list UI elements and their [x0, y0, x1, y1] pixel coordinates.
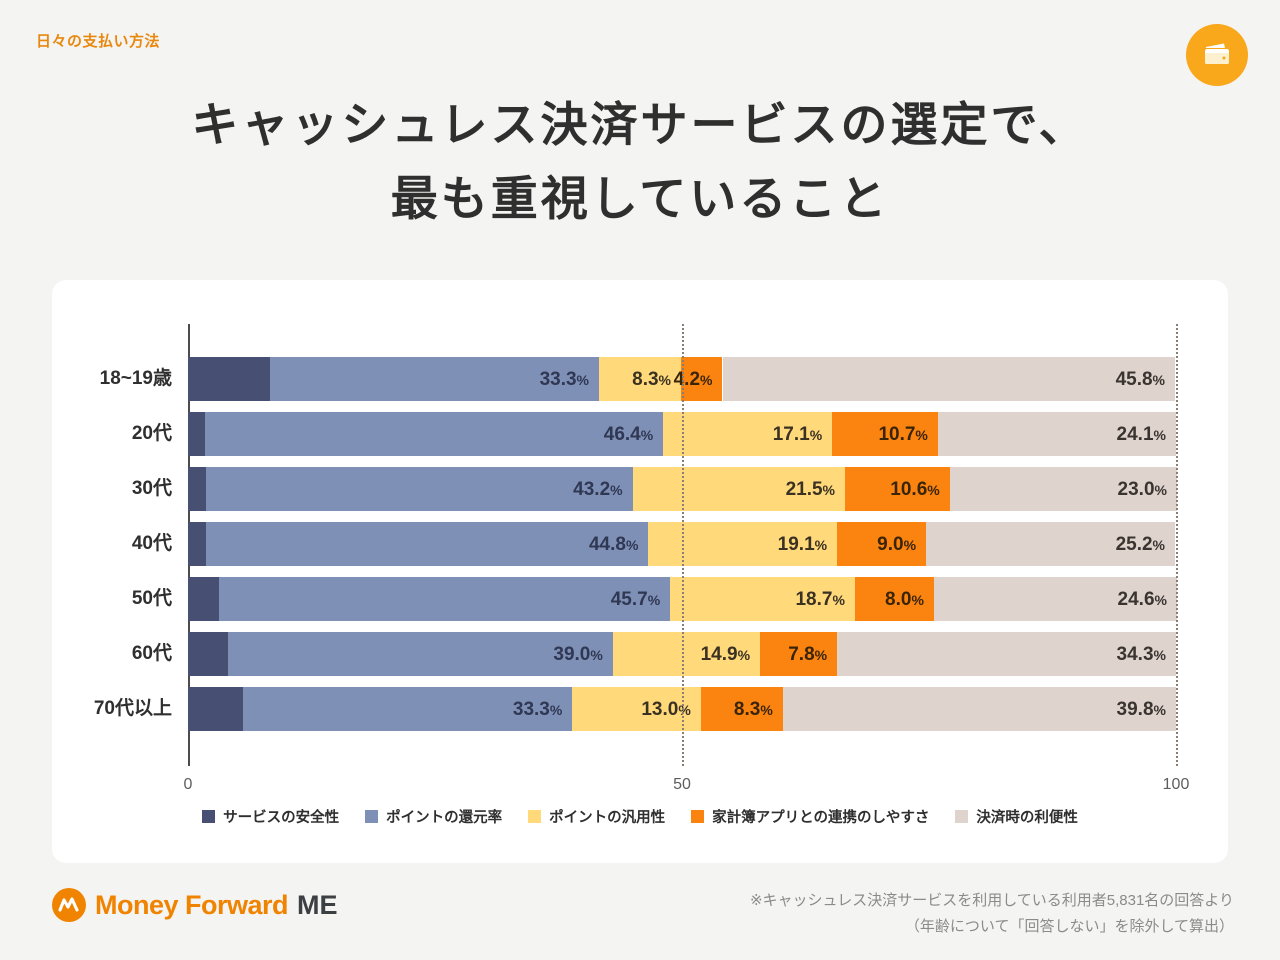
percent-sign: % — [915, 427, 927, 443]
bar-segment: 1.7% — [188, 412, 205, 456]
logo-me: ME — [297, 890, 338, 921]
bar-segment-value: 13.0% — [641, 700, 700, 719]
row-category-label: 60代 — [132, 632, 188, 676]
percent-sign: % — [626, 537, 638, 553]
row-category-label: 18~19歳 — [100, 357, 188, 401]
bar-segment: 8.3% — [701, 687, 783, 731]
wallet-icon — [1202, 41, 1232, 69]
bar-segment: 18.7% — [670, 577, 855, 621]
bar-segment: 33.3% — [243, 687, 572, 731]
footnote: ※キャッシュレス決済サービスを利用している利用者5,831名の回答より （年齢に… — [750, 888, 1234, 941]
page-title-line-2: 最も重視していること — [0, 162, 1280, 236]
eyebrow-label: 日々の支払い方法 — [36, 30, 160, 51]
percent-sign: % — [823, 482, 835, 498]
bar-segment: 23.0% — [950, 467, 1177, 511]
page-title-line-1: キャッシュレス決済サービスの選定で、 — [0, 88, 1280, 162]
bar-segment-value: 9.0% — [877, 535, 926, 554]
legend-item[interactable]: ポイントの還元率 — [365, 806, 502, 827]
bar-segment-value: 45.8% — [1116, 370, 1175, 389]
bar-segment: 5.6% — [188, 687, 243, 731]
bar-segment-value: 39.8% — [1117, 700, 1176, 719]
bar-segment-value: 21.5% — [786, 480, 845, 499]
legend-item[interactable]: 家計簿アプリとの連携のしやすさ — [691, 806, 929, 827]
legend-swatch-icon — [691, 810, 704, 823]
legend-swatch-icon — [202, 810, 215, 823]
row-category-label: 70代以上 — [94, 687, 188, 731]
bar-segment-value: 33.3% — [513, 700, 572, 719]
legend-label: 決済時の利便性 — [976, 806, 1078, 827]
percent-sign: % — [1154, 427, 1166, 443]
bar-segment-value: 44.8% — [589, 535, 648, 554]
percent-sign: % — [1155, 592, 1167, 608]
legend-item[interactable]: サービスの安全性 — [202, 806, 339, 827]
legend-item[interactable]: ポイントの汎用性 — [528, 806, 665, 827]
gridline — [1176, 324, 1178, 766]
bar-segment: 1.8% — [188, 467, 206, 511]
bar-segment: 8.3% — [188, 357, 270, 401]
bar-segment-value: 7.8% — [788, 645, 837, 664]
logo-wordmark: Money Forward — [95, 890, 288, 921]
bar-segment: 14.9% — [613, 632, 760, 676]
percent-sign: % — [810, 427, 822, 443]
legend-item[interactable]: 決済時の利便性 — [955, 806, 1078, 827]
percent-sign: % — [927, 482, 939, 498]
percent-sign: % — [550, 702, 562, 718]
x-axis-tick-label: 100 — [1163, 776, 1190, 794]
bar-segment: 24.6% — [934, 577, 1177, 621]
chart-card: 18~19歳8.3%33.3%8.3%4.2%45.8%20代1.7%46.4%… — [52, 280, 1228, 863]
bar-segment-value: 14.9% — [701, 645, 760, 664]
bar-segment: 10.6% — [845, 467, 950, 511]
bar-segment: 33.3% — [270, 357, 599, 401]
bar-segment-value: 25.2% — [1116, 535, 1175, 554]
bar-segment-value: 10.7% — [878, 425, 937, 444]
bar-segment-value: 39.0% — [553, 645, 612, 664]
gridline — [682, 324, 684, 766]
money-forward-logo: Money Forward ME — [52, 888, 338, 922]
legend-label: ポイントの汎用性 — [549, 806, 665, 827]
row-category-label: 30代 — [132, 467, 188, 511]
percent-sign: % — [832, 592, 844, 608]
percent-sign: % — [904, 537, 916, 553]
bar-segment-value: 8.3% — [734, 700, 783, 719]
bar-segment: 4.0% — [188, 632, 228, 676]
percent-sign: % — [659, 372, 671, 388]
legend-swatch-icon — [528, 810, 541, 823]
percent-sign: % — [641, 427, 653, 443]
bar-segment: 7.8% — [760, 632, 837, 676]
bar-segment: 43.2% — [206, 467, 633, 511]
percent-sign: % — [738, 647, 750, 663]
row-category-label: 50代 — [132, 577, 188, 621]
percent-sign: % — [911, 592, 923, 608]
bar-segment-value: 43.2% — [573, 480, 632, 499]
bar-segment: 8.3% — [599, 357, 681, 401]
money-forward-mark-icon — [52, 888, 86, 922]
x-axis-tick-label: 0 — [184, 776, 193, 794]
percent-sign: % — [648, 592, 660, 608]
percent-sign: % — [815, 537, 827, 553]
percent-sign: % — [815, 647, 827, 663]
bar-segment-value: 45.7% — [611, 590, 670, 609]
percent-sign: % — [700, 372, 712, 388]
percent-sign: % — [577, 372, 589, 388]
bar-segment: 9.0% — [837, 522, 926, 566]
bar-segment: 8.0% — [855, 577, 934, 621]
bar-segment-value: 18.7% — [795, 590, 854, 609]
legend-label: 家計簿アプリとの連携のしやすさ — [712, 806, 929, 827]
bar-segment: 21.5% — [633, 467, 845, 511]
bar-segment: 39.0% — [228, 632, 613, 676]
bar-segment: 45.8% — [723, 357, 1176, 401]
chart-plot-area: 18~19歳8.3%33.3%8.3%4.2%45.8%20代1.7%46.4%… — [188, 324, 1176, 766]
legend-label: ポイントの還元率 — [386, 806, 502, 827]
bar-segment: 34.3% — [837, 632, 1176, 676]
legend-swatch-icon — [365, 810, 378, 823]
bar-segment: 24.1% — [938, 412, 1176, 456]
mf-wave-icon — [58, 895, 80, 915]
legend-swatch-icon — [955, 810, 968, 823]
bar-segment-value: 24.1% — [1117, 425, 1176, 444]
wallet-badge — [1186, 24, 1248, 86]
row-category-label: 40代 — [132, 522, 188, 566]
footnote-line-2: （年齢について「回答しない」を除外して算出） — [750, 914, 1234, 940]
x-axis-tick-label: 50 — [673, 776, 691, 794]
bar-segment: 46.4% — [205, 412, 663, 456]
percent-sign: % — [590, 647, 602, 663]
row-category-label: 20代 — [132, 412, 188, 456]
bar-segment: 1.8% — [188, 522, 206, 566]
legend-label: サービスの安全性 — [223, 806, 339, 827]
bar-segment: 44.8% — [206, 522, 649, 566]
bar-segment: 45.7% — [219, 577, 671, 621]
percent-sign: % — [1154, 702, 1166, 718]
bar-segment-value: 8.0% — [885, 590, 934, 609]
bar-segment-value: 46.4% — [604, 425, 663, 444]
bar-segment: 4.2% — [681, 357, 722, 401]
percent-sign: % — [678, 702, 690, 718]
bar-segment: 19.1% — [648, 522, 837, 566]
bar-segment: 39.8% — [783, 687, 1176, 731]
percent-sign: % — [760, 702, 772, 718]
bar-segment-value: 23.0% — [1118, 480, 1177, 499]
bar-segment-value: 34.3% — [1117, 645, 1176, 664]
bar-segment-value: 4.2% — [674, 370, 723, 389]
bar-segment: 10.7% — [832, 412, 938, 456]
chart-legend: サービスの安全性ポイントの還元率ポイントの汎用性家計簿アプリとの連携のしやすさ決… — [52, 806, 1228, 827]
page-title: キャッシュレス決済サービスの選定で、 最も重視していること — [0, 88, 1280, 237]
footnote-line-1: ※キャッシュレス決済サービスを利用している利用者5,831名の回答より — [750, 888, 1234, 914]
bar-segment-value: 10.6% — [890, 480, 949, 499]
percent-sign: % — [610, 482, 622, 498]
bar-segment-value: 24.6% — [1118, 590, 1177, 609]
percent-sign: % — [1155, 482, 1167, 498]
percent-sign: % — [1153, 537, 1165, 553]
percent-sign: % — [1154, 647, 1166, 663]
bar-segment: 25.2% — [926, 522, 1175, 566]
bar-segment-value: 33.3% — [540, 370, 599, 389]
percent-sign: % — [1153, 372, 1165, 388]
bar-segment: 3.1% — [188, 577, 219, 621]
bar-segment-value: 17.1% — [773, 425, 832, 444]
bar-segment-value: 19.1% — [778, 535, 837, 554]
bar-segment: 17.1% — [663, 412, 832, 456]
